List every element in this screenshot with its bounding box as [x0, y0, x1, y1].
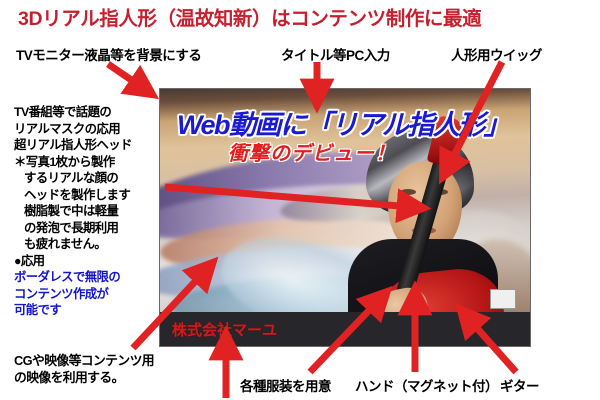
puppet-eye-left: [400, 189, 416, 195]
photo-overlay-title-line2: 衝撃のデビュー！: [228, 137, 396, 166]
left-line: ヘッドを製作します: [14, 187, 164, 204]
callout-label-pc-title: タイトル等PC入力: [281, 44, 390, 64]
left-line-highlight: 可能です: [14, 302, 164, 319]
callout-label-wig: 人形用ウイッグ: [451, 44, 542, 64]
left-line: ＊写真1枚から製作: [14, 154, 164, 171]
bottom-left-line: CGや映像等コンテンツ用: [14, 352, 154, 369]
callout-label-monitor: TVモニター液晶等を背景にする: [16, 44, 201, 64]
page-title: 3Dリアル指人形（温故知新）はコンテンツ制作に最適: [18, 6, 588, 32]
arrow-monitor: [108, 64, 143, 88]
callout-label-clothing: 各種服装を用意: [240, 375, 331, 395]
photo-watermark: [490, 289, 516, 309]
company-name: 株式会社マーユ: [172, 319, 277, 340]
left-line: TV番組等で話題の: [14, 104, 164, 121]
callout-label-hand: ハンド（マグネット付）: [355, 375, 498, 395]
callout-label-guitar: ギター: [500, 375, 539, 395]
bottom-left-description: CGや映像等コンテンツ用 の映像を利用する。: [14, 352, 154, 386]
left-line-highlight: コンテンツ作成が: [14, 286, 164, 303]
left-description-block: TV番組等で話題の リアルマスクの応用 超リアル指人形ヘッド ＊写真1枚から製作…: [14, 104, 164, 319]
product-photo: 株式会社マーユ Web動画に「リアル指人形」 衝撃のデビュー！: [159, 88, 531, 347]
left-line: も疲れません。: [14, 236, 164, 253]
poster-canvas: 3Dリアル指人形（温故知新）はコンテンツ制作に最適 TVモニター液晶等を背景にす…: [0, 0, 600, 400]
left-line-highlight: ボーダレスで無限の: [14, 269, 164, 286]
left-line: の発泡で長期利用: [14, 220, 164, 237]
left-line: するリアルな顔の: [14, 170, 164, 187]
left-line: 超リアル指人形ヘッド: [14, 137, 164, 154]
bottom-left-line: の映像を利用する。: [14, 369, 154, 386]
left-line-bullet: ●応用: [14, 253, 164, 270]
left-line: リアルマスクの応用: [14, 121, 164, 138]
left-line: 樹脂製で中は軽量: [14, 203, 164, 220]
